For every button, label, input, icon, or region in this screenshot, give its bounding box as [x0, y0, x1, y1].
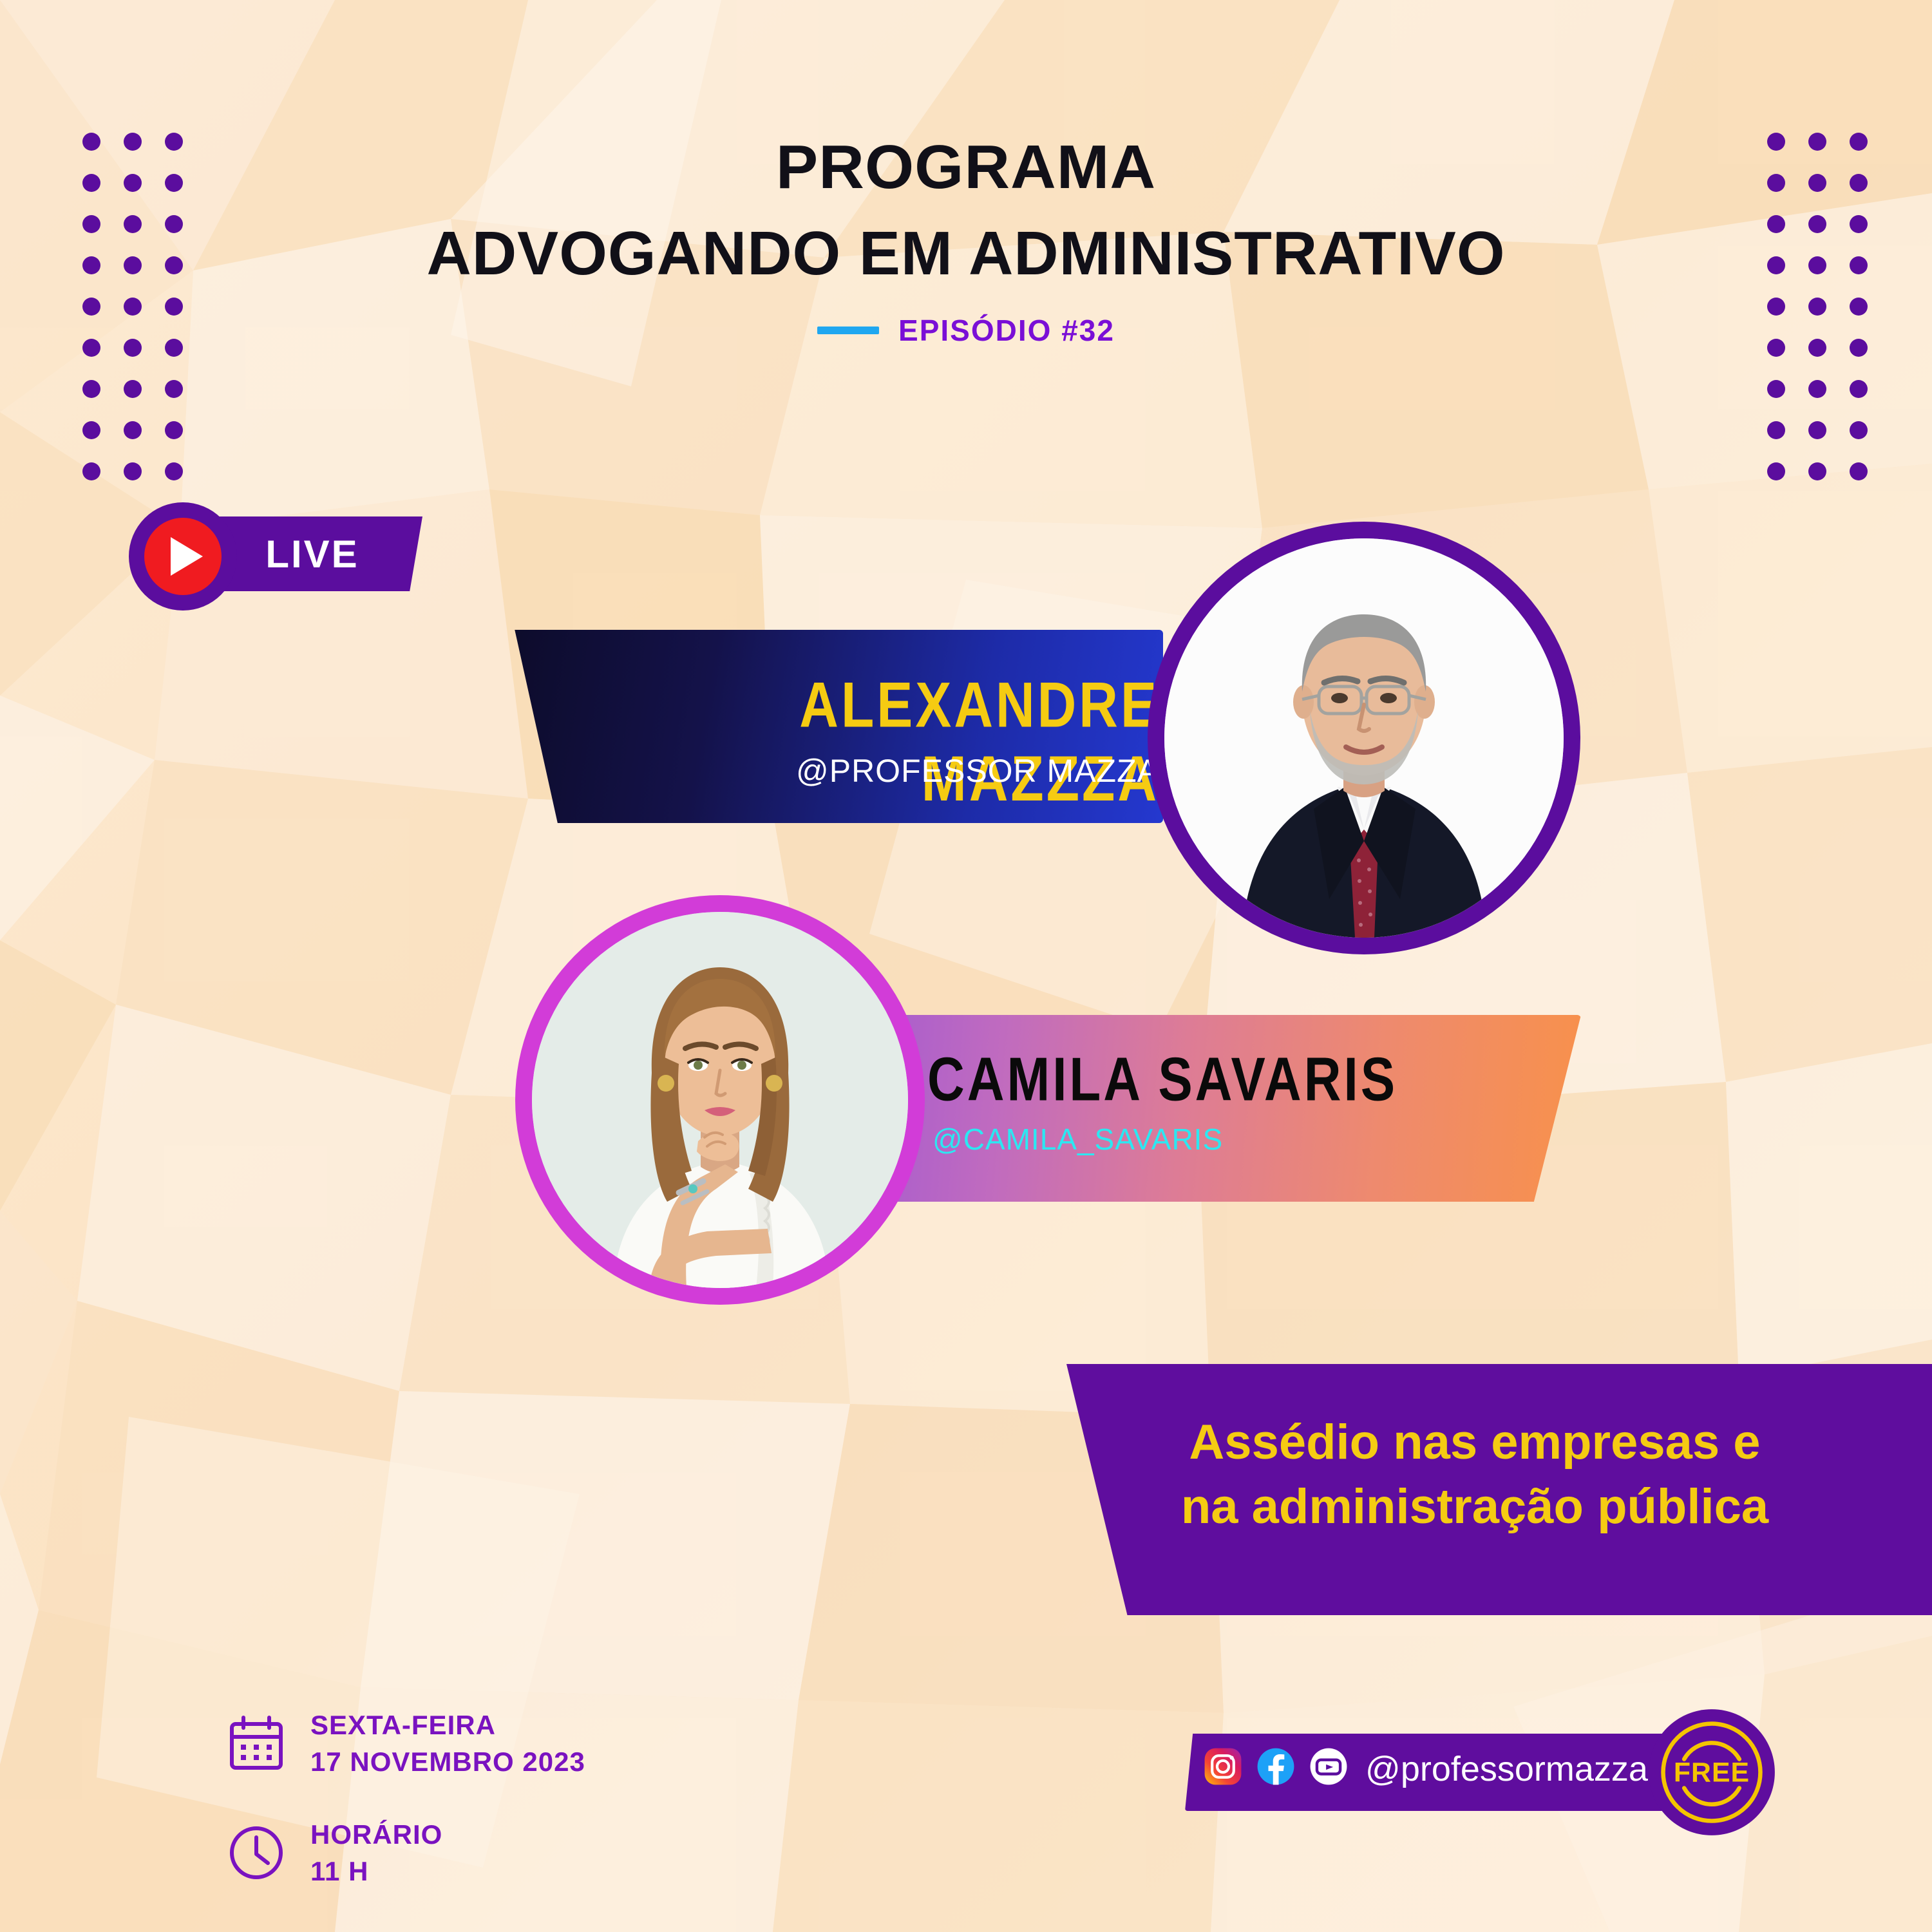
episode-row: EPISÓDIO #32 — [0, 313, 1932, 348]
live-label: LIVE — [232, 516, 393, 591]
event-time-value: 11 H — [310, 1853, 442, 1889]
speaker-1-photo — [1164, 538, 1564, 938]
event-date-row: SEXTA-FEIRA 17 NOVEMBRO 2023 — [225, 1707, 585, 1780]
live-play-button[interactable] — [129, 502, 237, 611]
social-icons — [1203, 1747, 1349, 1786]
event-date: 17 NOVEMBRO 2023 — [310, 1743, 585, 1780]
header: PROGRAMA ADVOGANDO EM ADMINISTRATIVO EPI… — [0, 137, 1932, 348]
event-time-text: HORÁRIO 11 H — [310, 1816, 442, 1889]
play-circle — [144, 518, 222, 595]
program-title-line1: PROGRAMA — [0, 137, 1932, 198]
speaker-2-name: CAMILA SAVARIS — [927, 1044, 1507, 1115]
speaker-2-handle: @CAMILA_SAVARIS — [933, 1122, 1512, 1157]
episode-rule — [817, 327, 879, 334]
event-details: SEXTA-FEIRA 17 NOVEMBRO 2023 HORÁRIO 11 … — [225, 1707, 585, 1926]
topic-text: Assédio nas empresas e na administração … — [1095, 1410, 1855, 1540]
promo-poster: PROGRAMA ADVOGANDO EM ADMINISTRATIVO EPI… — [0, 0, 1932, 1932]
program-title-line2: ADVOGANDO EM ADMINISTRATIVO — [0, 223, 1932, 285]
social-handle[interactable]: @professormazza — [1365, 1749, 1648, 1789]
calendar-icon — [225, 1712, 287, 1774]
event-date-text: SEXTA-FEIRA 17 NOVEMBRO 2023 — [310, 1707, 585, 1780]
speaker-2-avatar — [515, 895, 925, 1305]
event-time-row: HORÁRIO 11 H — [225, 1816, 585, 1889]
speaker-1-name: ALEXANDRE MAZZZA — [580, 668, 1159, 816]
topic-line1: Assédio nas empresas e — [1095, 1410, 1855, 1475]
event-weekday: SEXTA-FEIRA — [310, 1707, 585, 1743]
live-badge[interactable]: LIVE — [129, 502, 425, 605]
free-badge-label: FREE — [1674, 1757, 1750, 1788]
speaker-1-avatar — [1148, 522, 1580, 954]
instagram-icon[interactable] — [1203, 1747, 1243, 1786]
facebook-icon[interactable] — [1256, 1747, 1296, 1786]
youtube-icon[interactable] — [1309, 1747, 1349, 1786]
event-time-label: HORÁRIO — [310, 1816, 442, 1853]
speaker-1-handle: @PROFESSOR MAZZA — [580, 752, 1159, 790]
episode-label: EPISÓDIO #32 — [898, 313, 1115, 348]
speaker-2-photo — [532, 912, 908, 1288]
topic-line2: na administração pública — [1095, 1475, 1855, 1539]
social-bar-wrap: @professormazza FREE — [1185, 1707, 1765, 1855]
play-icon — [171, 537, 203, 576]
clock-icon — [225, 1822, 287, 1884]
free-badge: FREE — [1646, 1707, 1777, 1838]
